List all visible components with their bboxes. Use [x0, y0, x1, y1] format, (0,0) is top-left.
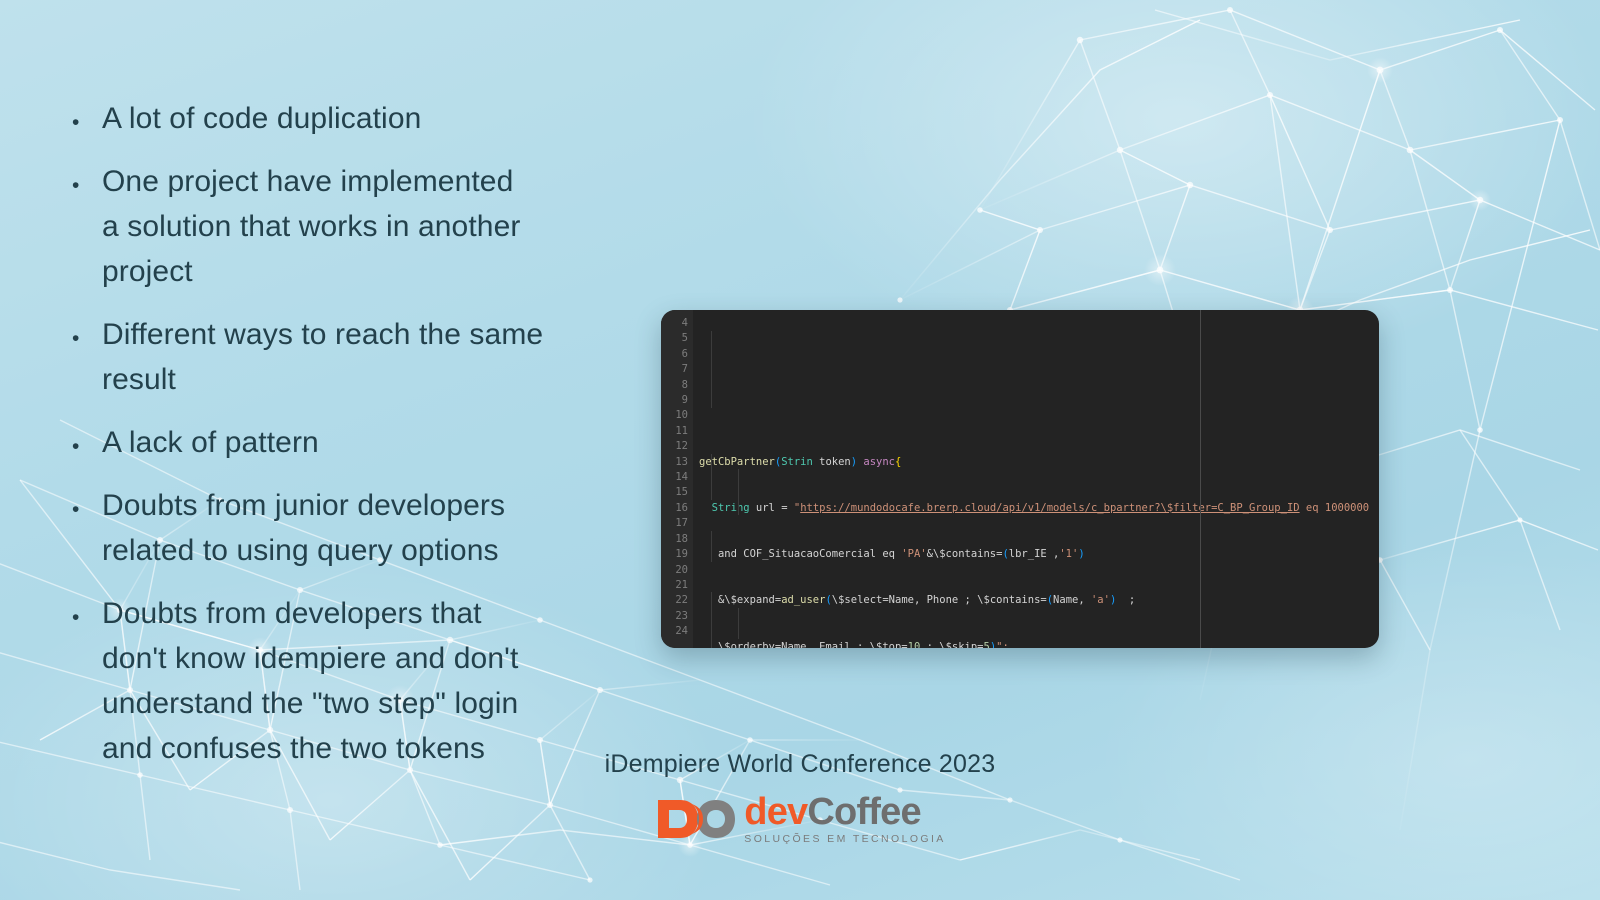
conference-title: iDempiere World Conference 2023	[0, 750, 1600, 779]
code-vertical-ruler	[1200, 310, 1201, 648]
bullet-text: One project have implemented a solution …	[102, 159, 520, 294]
line-number: 10	[661, 408, 693, 423]
list-item: • A lot of code duplication	[72, 96, 672, 141]
line-number: 20	[661, 563, 693, 578]
logo-tagline: SOLUÇÕES EM TECNOLOGIA	[744, 834, 945, 845]
bullet-marker-icon: •	[72, 312, 102, 349]
line-number: 9	[661, 393, 693, 408]
code-line: getCbPartner(Strin token) async{	[693, 455, 1379, 470]
logo-word-dev: dev	[744, 791, 807, 833]
devcoffee-logo: devCoffee SOLUÇÕES EM TECNOLOGIA	[0, 793, 1600, 845]
code-line: and COF_SituacaoComercial eq 'PA'&\$cont…	[693, 547, 1379, 562]
line-number: 19	[661, 547, 693, 562]
devcoffee-wordmark: devCoffee	[744, 793, 945, 831]
list-item: • Different ways to reach the same resul…	[72, 312, 672, 402]
bullet-marker-icon: •	[72, 159, 102, 196]
line-number: 6	[661, 347, 693, 362]
line-number: 8	[661, 378, 693, 393]
line-number: 13	[661, 455, 693, 470]
bullet-text: A lot of code duplication	[102, 96, 421, 141]
line-number: 24	[661, 624, 693, 639]
list-item: • A lack of pattern	[72, 420, 672, 465]
list-item: • Doubts from developers that don't know…	[72, 591, 672, 771]
devcoffee-infinity-mark-icon	[654, 795, 738, 843]
code-line: \$orderby=Name, Email ; \$top=10 ; \$ski…	[693, 640, 1379, 648]
line-number: 15	[661, 485, 693, 500]
line-number: 11	[661, 424, 693, 439]
line-number: 21	[661, 578, 693, 593]
bullet-marker-icon: •	[72, 591, 102, 628]
bullet-text: A lack of pattern	[102, 420, 319, 465]
presentation-slide: • A lot of code duplication • One projec…	[0, 0, 1600, 900]
bullet-marker-icon: •	[72, 96, 102, 133]
line-number: 22	[661, 593, 693, 608]
bullet-marker-icon: •	[72, 420, 102, 457]
bullet-text: Doubts from junior developers related to…	[102, 483, 505, 573]
line-number: 12	[661, 439, 693, 454]
list-item: • Doubts from junior developers related …	[72, 483, 672, 573]
bullet-marker-icon: •	[72, 483, 102, 520]
line-number: 23	[661, 609, 693, 624]
line-number: 17	[661, 516, 693, 531]
list-item: • One project have implemented a solutio…	[72, 159, 672, 294]
line-number: 14	[661, 470, 693, 485]
code-snippet-panel: 4 5 6 7 8 9 10 11 12 13 14 15 16 17 18 1…	[661, 310, 1379, 648]
bullet-list: • A lot of code duplication • One projec…	[72, 96, 672, 789]
code-text-area[interactable]: getCbPartner(Strin token) async{ String …	[693, 310, 1379, 648]
code-line: &\$expand=ad_user(\$select=Name, Phone ;…	[693, 593, 1379, 608]
bullet-text: Doubts from developers that don't know i…	[102, 591, 518, 771]
bullet-text: Different ways to reach the same result	[102, 312, 543, 402]
line-number: 4	[661, 316, 693, 331]
line-number: 18	[661, 532, 693, 547]
logo-word-coffee: Coffee	[807, 791, 920, 833]
line-number: 7	[661, 362, 693, 377]
line-number: 16	[661, 501, 693, 516]
line-number: 5	[661, 331, 693, 346]
code-line-number-gutter: 4 5 6 7 8 9 10 11 12 13 14 15 16 17 18 1…	[661, 310, 693, 648]
code-line: String url = "https://mundodocafe.brerp.…	[693, 501, 1379, 516]
